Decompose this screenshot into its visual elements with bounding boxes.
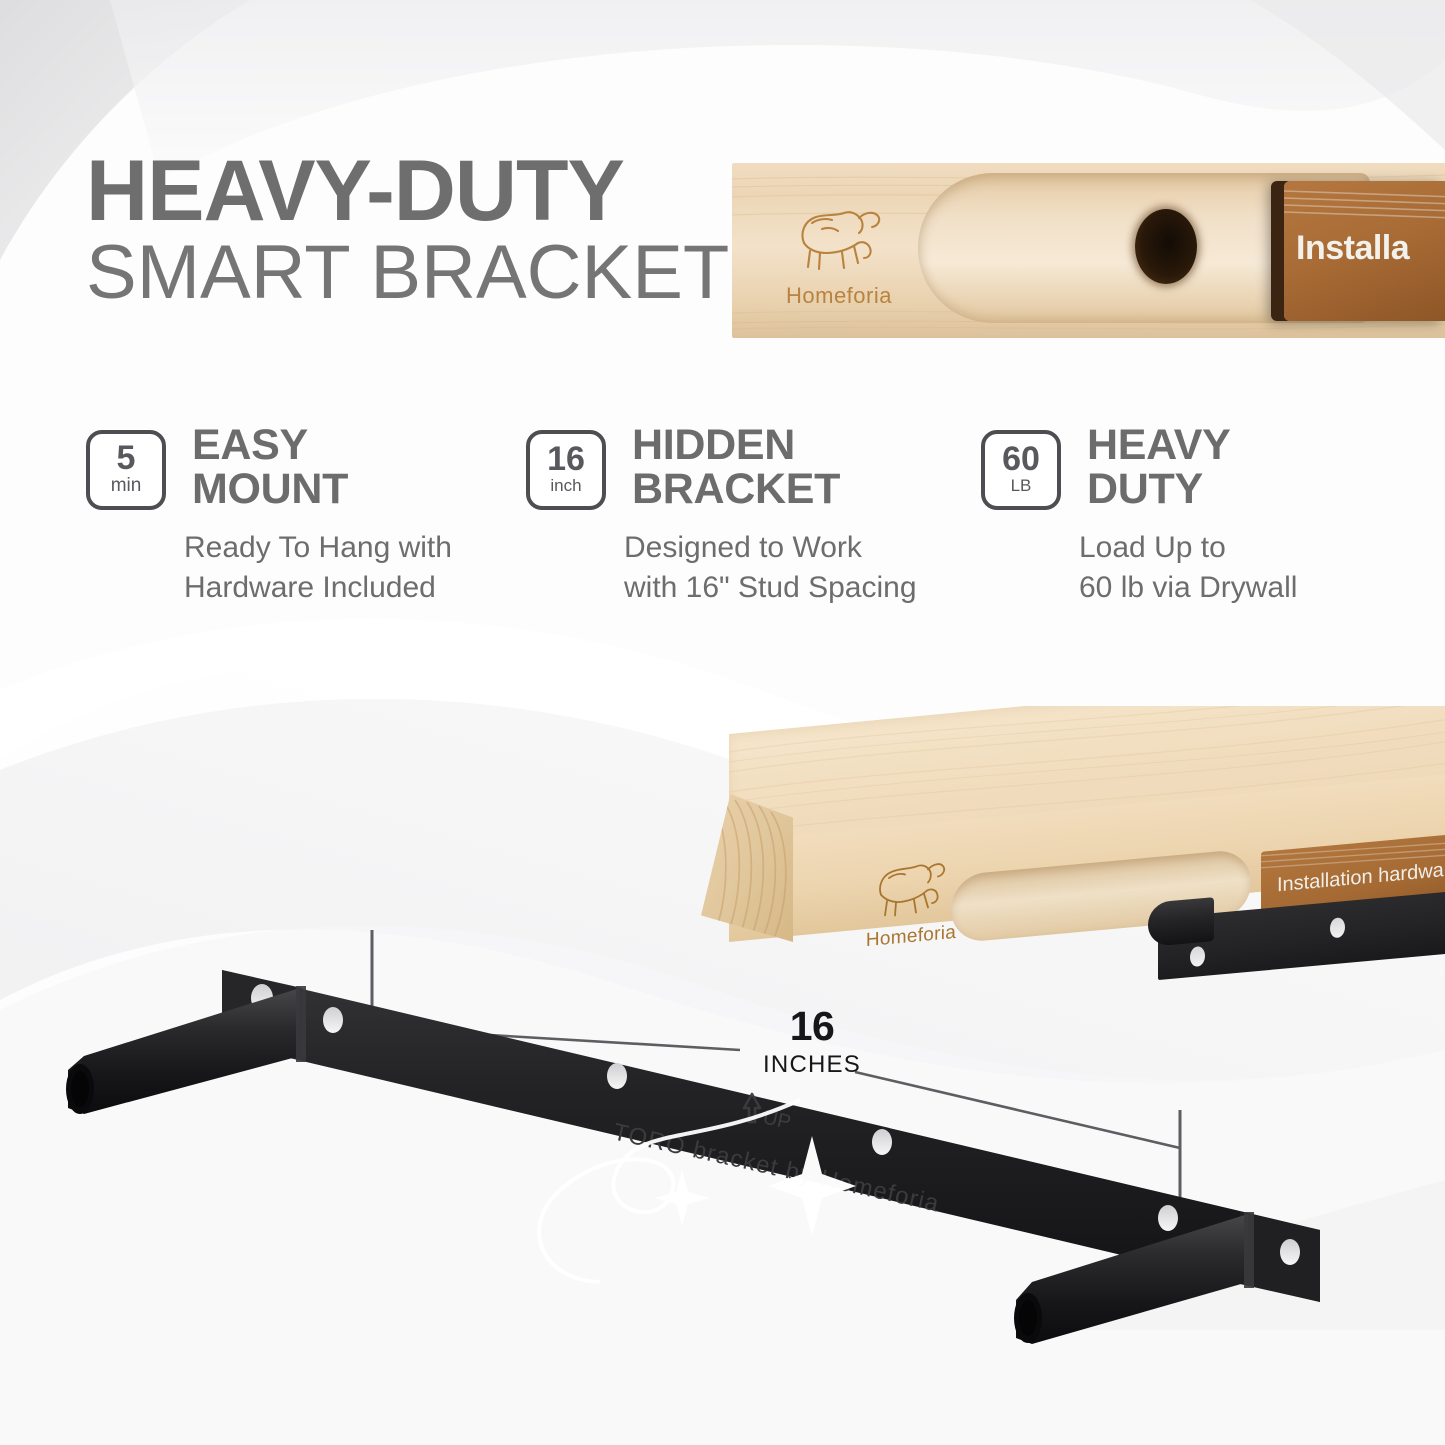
badge-unit: inch	[550, 477, 581, 494]
mounting-hole	[1280, 1239, 1300, 1265]
feature-title-line2: BRACKET	[632, 468, 840, 512]
mounting-hole	[872, 1129, 892, 1155]
feature-desc-line1: Load Up to	[1079, 528, 1381, 568]
hardware-box-top: Installa	[1284, 181, 1445, 321]
bracket-svg: UP TORO bracket by Homeforia	[0, 930, 1445, 1445]
title-main: HEAVY-DUTY	[86, 150, 766, 233]
mounting-hole	[323, 1007, 343, 1033]
feature-header: 16 inch HIDDEN BRACKET	[526, 424, 981, 512]
badge-5-min: 5 min	[86, 430, 166, 510]
hero-bracket-illustration: UP TORO bracket by Homeforia	[0, 930, 1445, 1445]
mounting-hole	[607, 1063, 627, 1089]
feature-list: 5 min EASY MOUNT Ready To Hang with Hard…	[86, 424, 1386, 608]
feature-title: EASY MOUNT	[192, 424, 348, 512]
feature-title-line2: DUTY	[1087, 468, 1230, 512]
feature-description: Ready To Hang with Hardware Included	[184, 528, 526, 608]
feature-desc-line2: 60 lb via Drywall	[1079, 568, 1381, 608]
feature-title: HEAVY DUTY	[1087, 424, 1230, 512]
bison-icon	[764, 199, 914, 277]
feature-header: 60 LB HEAVY DUTY	[981, 424, 1381, 512]
infographic-canvas: HEAVY-DUTY SMART BRACKET	[0, 0, 1445, 1445]
dimension-unit: INCHES	[742, 1047, 882, 1083]
end-grain-rings-icon	[701, 794, 793, 942]
badge-number: 5	[117, 443, 136, 474]
bison-icon	[851, 851, 971, 928]
feature-hidden-bracket: 16 inch HIDDEN BRACKET Designed to Work …	[526, 424, 981, 608]
rod-collar	[296, 986, 306, 1062]
rod-collar	[1244, 1212, 1254, 1288]
box-label-top: Installa	[1296, 229, 1409, 268]
product-photo-shelf-channel: Homeforia Installa	[732, 163, 1445, 338]
dimension-label: 16 INCHES	[742, 1006, 882, 1083]
drilled-hole	[1135, 209, 1197, 284]
feature-easy-mount: 5 min EASY MOUNT Ready To Hang with Hard…	[86, 424, 526, 608]
badge-60-lb: 60 LB	[981, 430, 1061, 510]
feature-title-line1: HEAVY	[1087, 424, 1230, 468]
page-title: HEAVY-DUTY SMART BRACKET	[86, 150, 766, 312]
dimension-value: 16	[742, 1006, 882, 1047]
badge-16-inch: 16 inch	[526, 430, 606, 510]
feature-title-line1: EASY	[192, 424, 348, 468]
mounting-hole	[1158, 1205, 1178, 1231]
feature-description: Designed to Work with 16" Stud Spacing	[624, 528, 981, 608]
brand-logo-top: Homeforia	[764, 199, 914, 309]
feature-desc-line1: Designed to Work	[624, 528, 981, 568]
badge-number: 60	[1002, 444, 1040, 475]
title-sub: SMART BRACKET	[86, 233, 766, 312]
bracket-rod-left	[66, 986, 306, 1114]
board-end-grain	[701, 794, 793, 942]
feature-title: HIDDEN BRACKET	[632, 424, 840, 512]
feature-desc-line1: Ready To Hang with	[184, 528, 526, 568]
badge-number: 16	[547, 444, 585, 475]
feature-heavy-duty: 60 LB HEAVY DUTY Load Up to 60 lb via Dr…	[981, 424, 1381, 608]
feature-title-line1: HIDDEN	[632, 424, 840, 468]
feature-desc-line2: with 16" Stud Spacing	[624, 568, 981, 608]
feature-desc-line2: Hardware Included	[184, 568, 526, 608]
brand-name-top: Homeforia	[764, 283, 914, 309]
badge-unit: LB	[1011, 477, 1032, 494]
badge-unit: min	[111, 476, 142, 495]
feature-title-line2: MOUNT	[192, 468, 348, 512]
box-tape-icon	[1284, 187, 1445, 221]
feature-header: 5 min EASY MOUNT	[86, 424, 526, 512]
wood-board: Homeforia Installation hardware	[701, 734, 1445, 944]
feature-description: Load Up to 60 lb via Drywall	[1079, 528, 1381, 608]
